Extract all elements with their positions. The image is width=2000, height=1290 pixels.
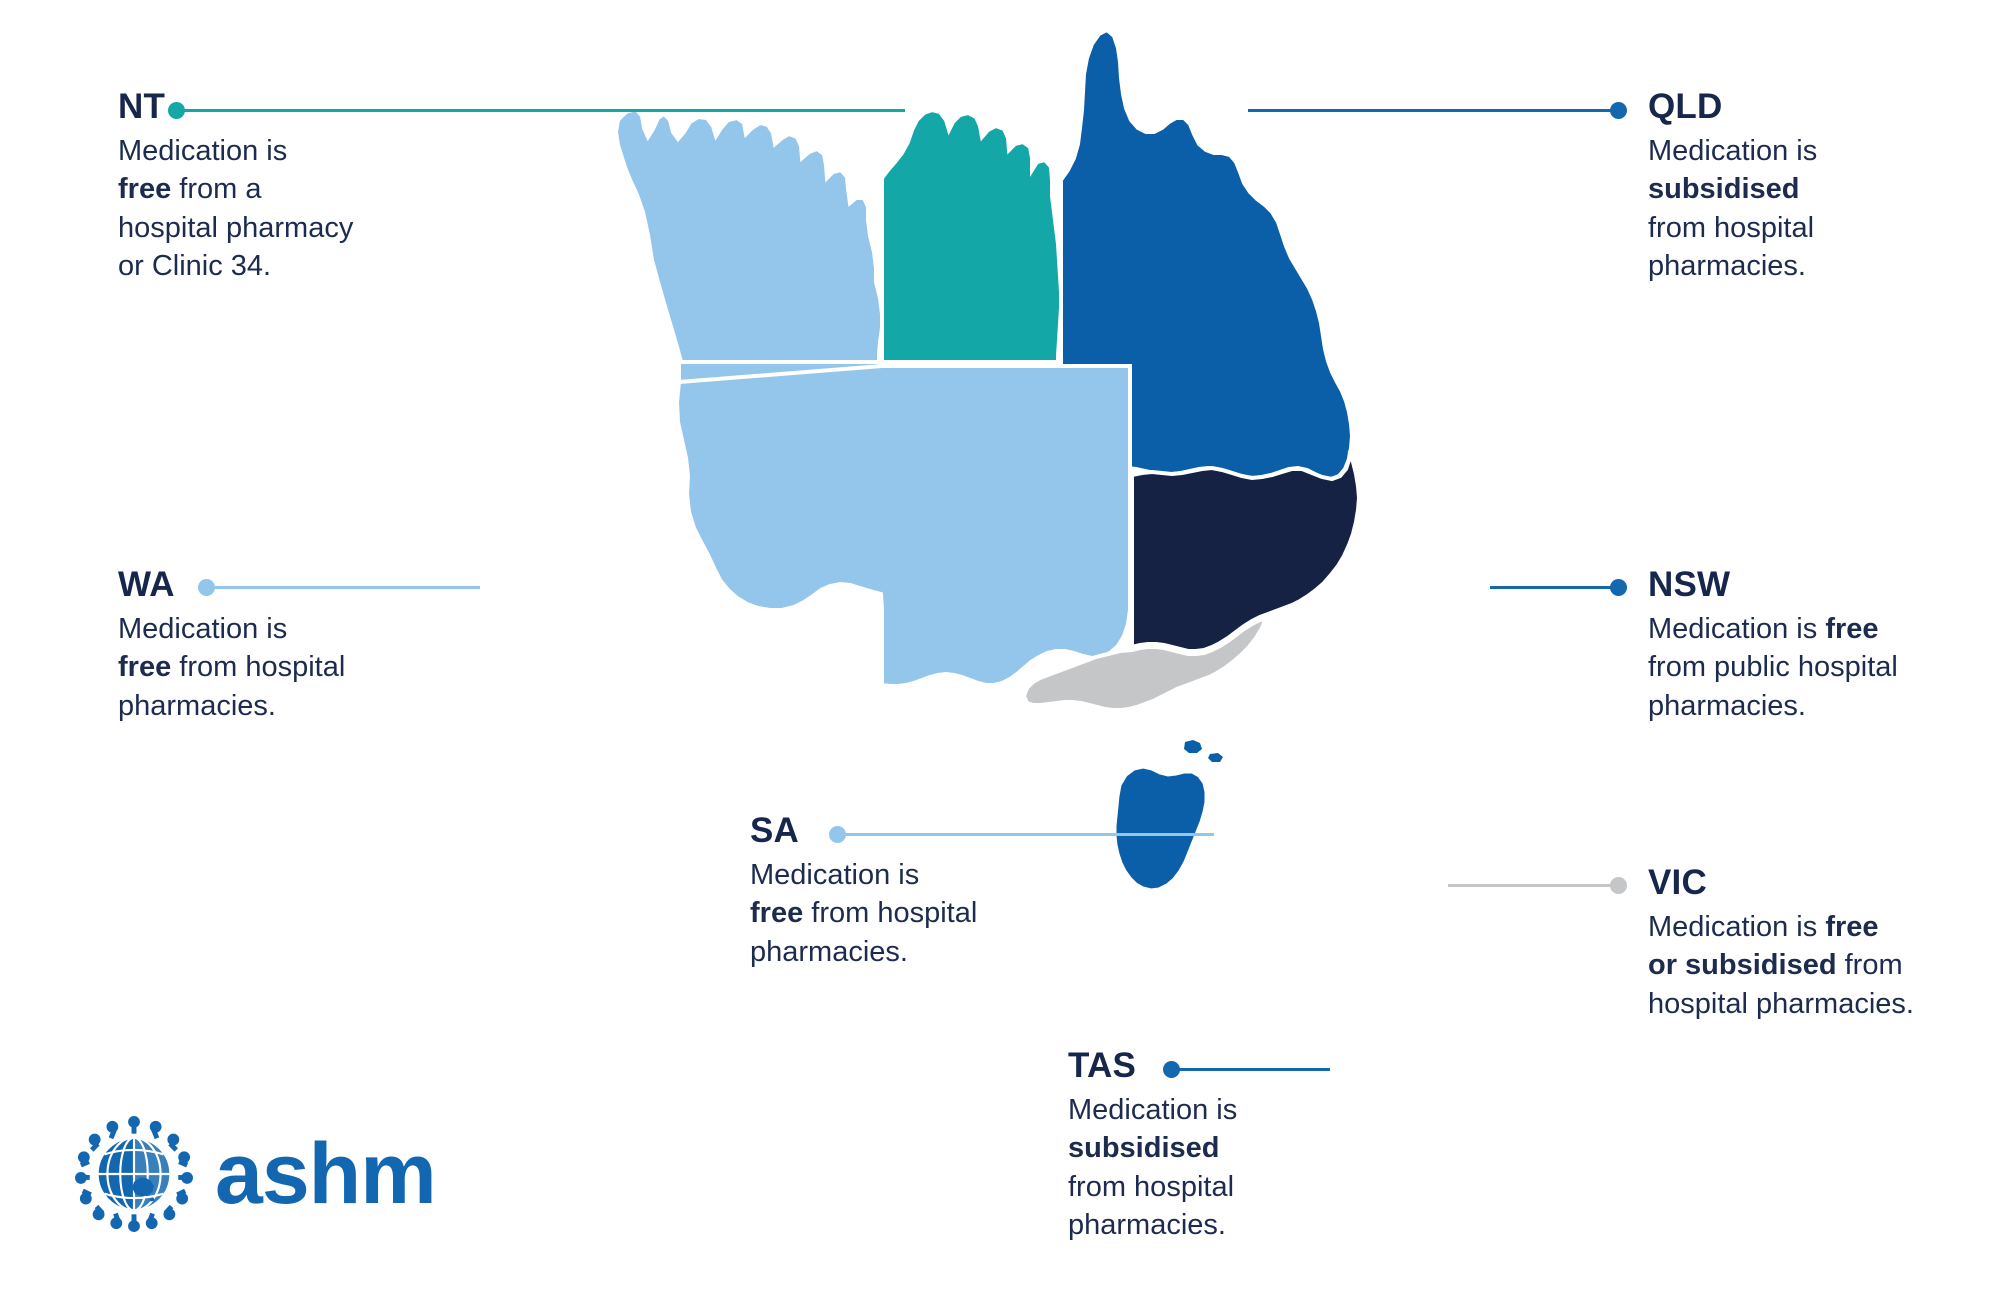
state-code-sa: SA xyxy=(750,813,799,848)
connector-dot-vic xyxy=(1610,877,1627,894)
vic-line-1-bold: free xyxy=(1825,911,1878,943)
nt-line-1: Medication is xyxy=(118,135,287,167)
callout-sa-header: SA xyxy=(750,808,1050,852)
callout-vic-header: VIC xyxy=(1648,860,1978,904)
state-code-tas: TAS xyxy=(1068,1048,1136,1083)
wa-line-3: pharmacies. xyxy=(118,690,276,722)
qld-line-2-bold: subsidised xyxy=(1648,173,1800,205)
map-region-wa[interactable] xyxy=(616,109,882,366)
callout-nsw[interactable]: NSW Medication is free from public hospi… xyxy=(1648,562,1968,725)
state-code-wa: WA xyxy=(118,567,175,602)
callout-nt[interactable]: NT Medication is free from a hospital ph… xyxy=(118,84,418,285)
nt-line-3: hospital pharmacy xyxy=(118,212,353,244)
map-region-nt[interactable] xyxy=(882,110,1061,362)
callout-tas[interactable]: TAS Medication is subsidised from hospit… xyxy=(1068,1043,1368,1244)
tas-line-2-bold: subsidised xyxy=(1068,1132,1220,1164)
nsw-line-3: pharmacies. xyxy=(1648,690,1806,722)
vic-line-2-bold: or subsidised xyxy=(1648,949,1837,981)
qld-line-4: pharmacies. xyxy=(1648,250,1806,282)
wa-line-2-bold: free xyxy=(118,651,171,683)
map-region-tas-island-n2 xyxy=(1208,753,1223,762)
nsw-line-2: from public hospital xyxy=(1648,651,1898,683)
map-region-tas-island-n1 xyxy=(1184,740,1202,753)
callout-sa[interactable]: SA Medication is free from hospital phar… xyxy=(750,808,1050,971)
tas-line-3: from hospital xyxy=(1068,1171,1234,1203)
wa-line-1: Medication is xyxy=(118,613,287,645)
state-code-nt: NT xyxy=(118,89,165,124)
callout-nt-header: NT xyxy=(118,84,418,128)
callout-nsw-header: NSW xyxy=(1648,562,1968,606)
callout-qld[interactable]: QLD Medication is subsidised from hospit… xyxy=(1648,84,1948,285)
infographic-canvas: NT Medication is free from a hospital ph… xyxy=(0,0,2000,1290)
state-code-vic: VIC xyxy=(1648,865,1707,900)
connector-line-nsw xyxy=(1490,586,1618,589)
tas-line-1: Medication is xyxy=(1068,1094,1237,1126)
nt-line-4: or Clinic 34. xyxy=(118,250,271,282)
nt-line-2-bold: free xyxy=(118,173,171,205)
ashm-logo[interactable]: ashm xyxy=(75,1115,436,1233)
sa-line-1: Medication is xyxy=(750,859,919,891)
callout-qld-header: QLD xyxy=(1648,84,1948,128)
vic-line-3: hospital pharmacies. xyxy=(1648,988,1914,1020)
qld-line-1: Medication is xyxy=(1648,135,1817,167)
callout-tas-description: Medication is subsidised from hospital p… xyxy=(1068,1091,1368,1244)
map-region-tas[interactable] xyxy=(1115,767,1206,890)
sa-line-2-bold: free xyxy=(750,897,803,929)
callout-tas-header: TAS xyxy=(1068,1043,1368,1087)
callout-nsw-description: Medication is free from public hospital … xyxy=(1648,610,1968,725)
connector-line-qld xyxy=(1248,109,1618,112)
state-code-qld: QLD xyxy=(1648,89,1722,124)
callout-sa-description: Medication is free from hospital pharmac… xyxy=(750,856,1050,971)
state-code-nsw: NSW xyxy=(1648,567,1730,602)
ashm-wordmark: ashm xyxy=(215,1131,436,1217)
map-region-sa[interactable] xyxy=(677,366,1130,686)
callout-qld-description: Medication is subsidised from hospital p… xyxy=(1648,132,1948,285)
qld-line-3: from hospital xyxy=(1648,212,1814,244)
callout-vic[interactable]: VIC Medication is free or subsidised fro… xyxy=(1648,860,1978,1023)
connector-dot-nsw xyxy=(1610,579,1627,596)
callout-wa-description: Medication is free from hospital pharmac… xyxy=(118,610,418,725)
globe-virus-icon xyxy=(75,1115,193,1233)
connector-line-vic xyxy=(1448,884,1618,887)
sa-line-3: pharmacies. xyxy=(750,936,908,968)
map-region-nsw[interactable] xyxy=(1132,451,1359,651)
nsw-line-1-bold: free xyxy=(1825,613,1878,645)
callout-nt-description: Medication is free from a hospital pharm… xyxy=(118,132,418,285)
callout-vic-description: Medication is free or subsidised from ho… xyxy=(1648,908,1978,1023)
connector-dot-qld xyxy=(1610,102,1627,119)
callout-wa[interactable]: WA Medication is free from hospital phar… xyxy=(118,562,418,725)
callout-wa-header: WA xyxy=(118,562,418,606)
tas-line-4: pharmacies. xyxy=(1068,1209,1226,1241)
